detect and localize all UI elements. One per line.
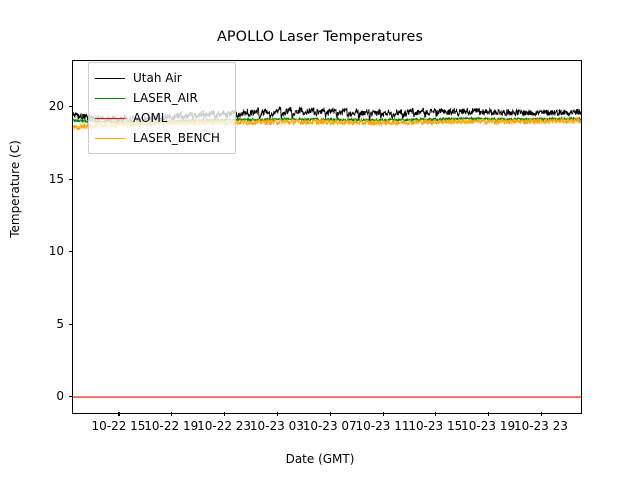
x-tick-mark bbox=[435, 412, 436, 416]
legend-item-laser-air[interactable]: LASER_AIR bbox=[95, 88, 229, 108]
y-tick-mark bbox=[69, 396, 73, 397]
legend-swatch-laser-air bbox=[95, 98, 125, 99]
legend-swatch-aoml bbox=[95, 118, 125, 119]
x-tick-mark bbox=[224, 412, 225, 416]
x-tick-mark bbox=[118, 412, 119, 416]
y-tick-mark bbox=[69, 106, 73, 107]
legend-item-aoml[interactable]: AOML bbox=[95, 108, 229, 128]
x-tick-mark bbox=[383, 412, 384, 416]
x-tick-label: 10-23 23 bbox=[514, 419, 568, 433]
y-tick-label: 10 bbox=[36, 244, 64, 258]
x-tick-mark bbox=[330, 412, 331, 416]
y-tick-label: 5 bbox=[36, 317, 64, 331]
x-tick-label: 10-23 19 bbox=[461, 419, 515, 433]
y-tick-label: 0 bbox=[36, 389, 64, 403]
y-tick-mark bbox=[69, 324, 73, 325]
matplotlib-figure: APOLLO Laser Temperatures Temperature (C… bbox=[0, 0, 640, 480]
x-tick-label: 10-23 15 bbox=[408, 419, 462, 433]
x-tick-label: 10-22 23 bbox=[197, 419, 251, 433]
x-tick-label: 10-22 15 bbox=[91, 419, 145, 433]
x-tick-label: 10-22 19 bbox=[144, 419, 198, 433]
y-tick-mark bbox=[69, 179, 73, 180]
legend-label: Utah Air bbox=[133, 71, 182, 85]
y-tick-mark bbox=[69, 251, 73, 252]
y-axis-label: Temperature (C) bbox=[8, 0, 22, 469]
x-tick-mark bbox=[488, 412, 489, 416]
x-tick-mark bbox=[277, 412, 278, 416]
legend-label: AOML bbox=[133, 111, 167, 125]
x-tick-label: 10-23 03 bbox=[250, 419, 304, 433]
chart-title: APOLLO Laser Temperatures bbox=[0, 29, 640, 45]
x-tick-label: 10-23 07 bbox=[303, 419, 357, 433]
legend-swatch-utah-air bbox=[95, 78, 125, 79]
chart-legend: Utah AirLASER_AIRAOMLLASER_BENCH bbox=[88, 62, 236, 154]
legend-item-laser-bench[interactable]: LASER_BENCH bbox=[95, 128, 229, 148]
legend-swatch-laser-bench bbox=[95, 138, 125, 139]
x-tick-label: 10-23 11 bbox=[356, 419, 410, 433]
x-tick-mark bbox=[171, 412, 172, 416]
y-tick-label: 20 bbox=[36, 99, 64, 113]
legend-item-utah-air[interactable]: Utah Air bbox=[95, 68, 229, 88]
x-axis-label: Date (GMT) bbox=[0, 452, 640, 466]
x-tick-mark bbox=[541, 412, 542, 416]
y-tick-label: 15 bbox=[36, 172, 64, 186]
legend-label: LASER_BENCH bbox=[133, 131, 220, 145]
legend-label: LASER_AIR bbox=[133, 91, 198, 105]
